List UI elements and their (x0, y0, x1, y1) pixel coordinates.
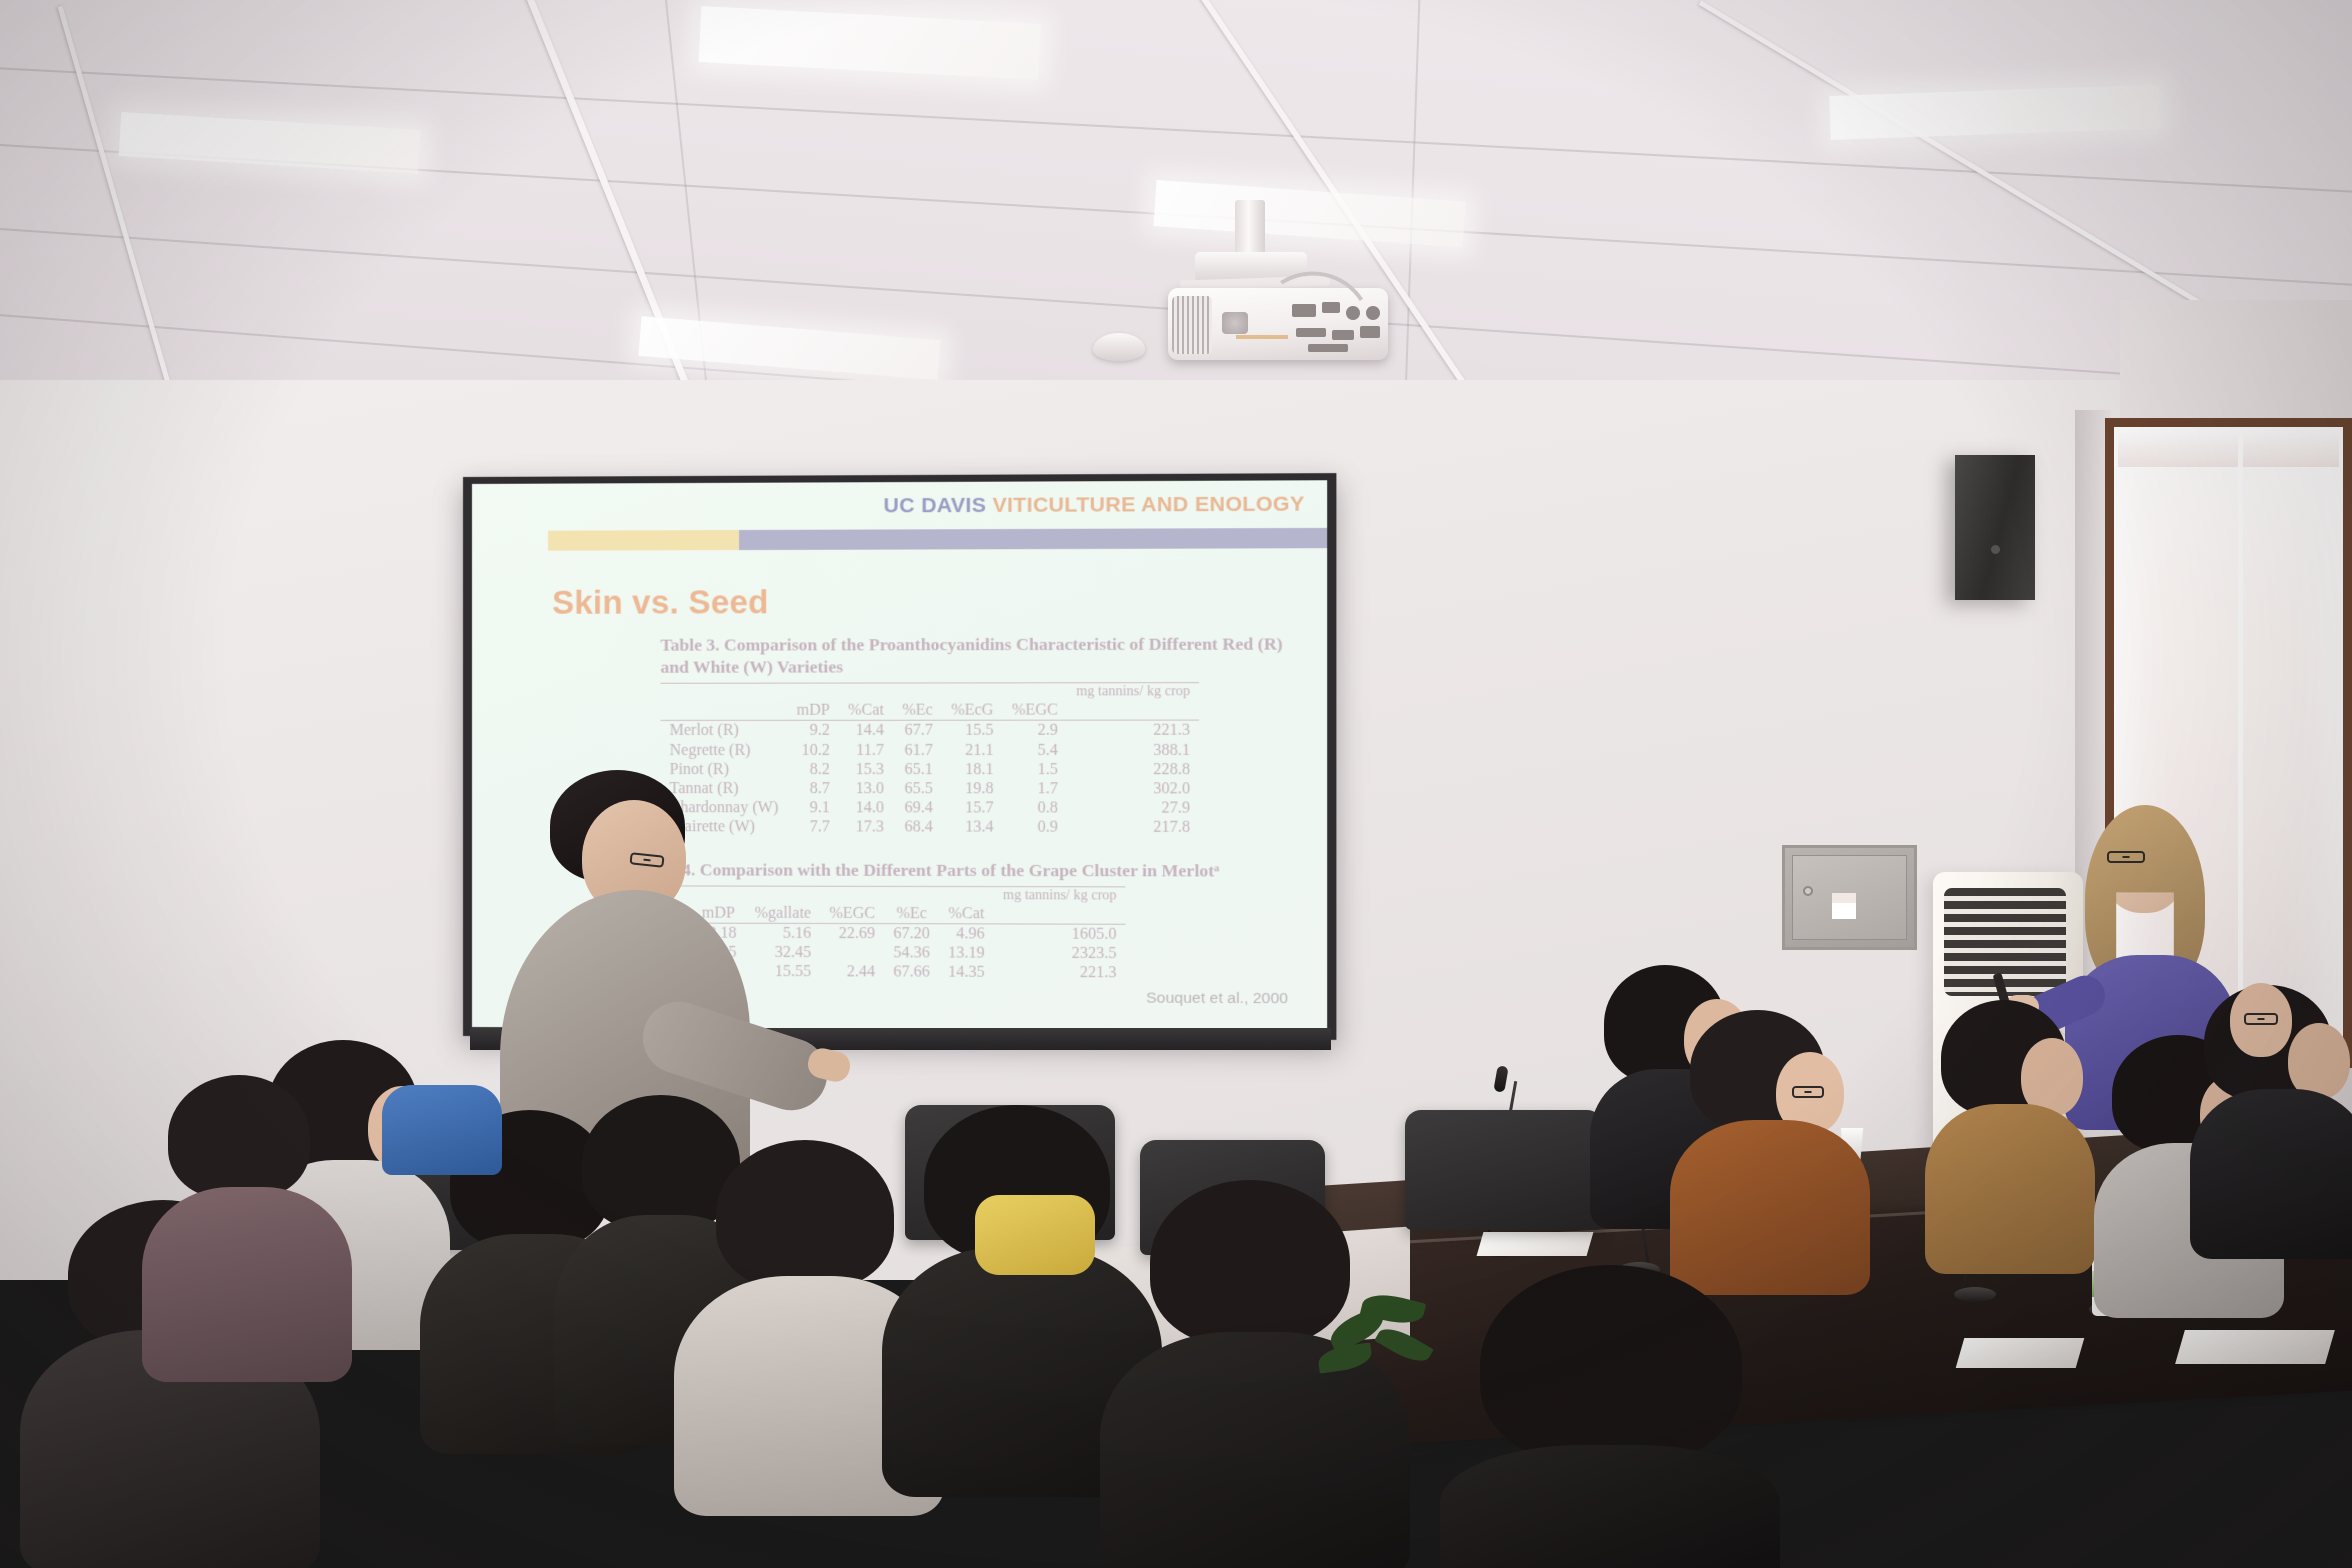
cabinet-lock-icon[interactable] (1803, 886, 1813, 896)
potted-plant (1318, 1290, 1448, 1400)
document[interactable] (1956, 1338, 2085, 1368)
wall-speaker-icon (1955, 455, 2035, 600)
attendee (1680, 1010, 1855, 1290)
table3-col-tannins-top: mg tannins/ kg crop (1067, 683, 1199, 701)
cabinet-label (1832, 893, 1856, 919)
slide-department: VITICULTURE AND ENOLOGY (992, 492, 1304, 516)
smoke-detector-icon (1093, 333, 1145, 361)
table3-col-cat: %Cat (839, 701, 893, 721)
slide-accent-bar (548, 528, 1327, 551)
accent-periwinkle-segment (739, 528, 1327, 550)
table3-col-ecg: %EcG (942, 701, 1003, 721)
table3-caption: Table 3. Comparison of the Proanthocyani… (660, 632, 1286, 677)
attendee-glasses-icon (1792, 1086, 1824, 1098)
slide-citation: Souquet et al., 2000 (1146, 990, 1288, 1009)
table3-col-egc: %EGC (1003, 701, 1067, 721)
slide-brand: UC DAVIS (884, 494, 987, 518)
table-row: Negrette (R)10.211.761.721.15.4388.1 (660, 740, 1199, 759)
slide-header: UC DAVIS VITICULTURE AND ENOLOGY (884, 492, 1305, 518)
table3-col-label (660, 701, 787, 721)
projector-ports (1290, 300, 1386, 356)
table4-col-egc: %EGC (820, 904, 884, 924)
attendee (150, 1075, 330, 1375)
attendee-glasses-icon (2244, 1013, 2278, 1025)
projector-lens-icon (1222, 312, 1248, 334)
table3-col-ec: %Ec (893, 701, 942, 721)
table-row: Merlot (R)9.214.467.715.52.9221.3 (660, 721, 1199, 741)
seminar-room-scene: UC DAVIS VITICULTURE AND ENOLOGY Skin vs… (0, 0, 2352, 1568)
table4-col-tannins-top: mg tannins/ kg crop (994, 886, 1126, 904)
accent-gold-segment (548, 530, 739, 551)
ac-grille-icon (1944, 888, 2066, 996)
attendee (1440, 1265, 1780, 1568)
attendee (1925, 1000, 2085, 1270)
yellow-garment (975, 1195, 1095, 1275)
standing-woman-glasses-icon (2107, 851, 2145, 863)
projector-vent-icon (1172, 296, 1212, 354)
chair[interactable] (1405, 1110, 1603, 1230)
slide-title: Skin vs. Seed (552, 583, 769, 622)
table3-col-mdp: mDP (787, 701, 838, 721)
document[interactable] (2175, 1330, 2335, 1364)
table4-col-ec: %Ec (884, 904, 939, 924)
wall-cabinet[interactable] (1782, 845, 1917, 950)
blue-jacket (382, 1085, 502, 1175)
document[interactable] (1477, 1232, 1594, 1256)
table4-col-cat: %Cat (939, 904, 994, 924)
attendee (2190, 965, 2340, 1145)
